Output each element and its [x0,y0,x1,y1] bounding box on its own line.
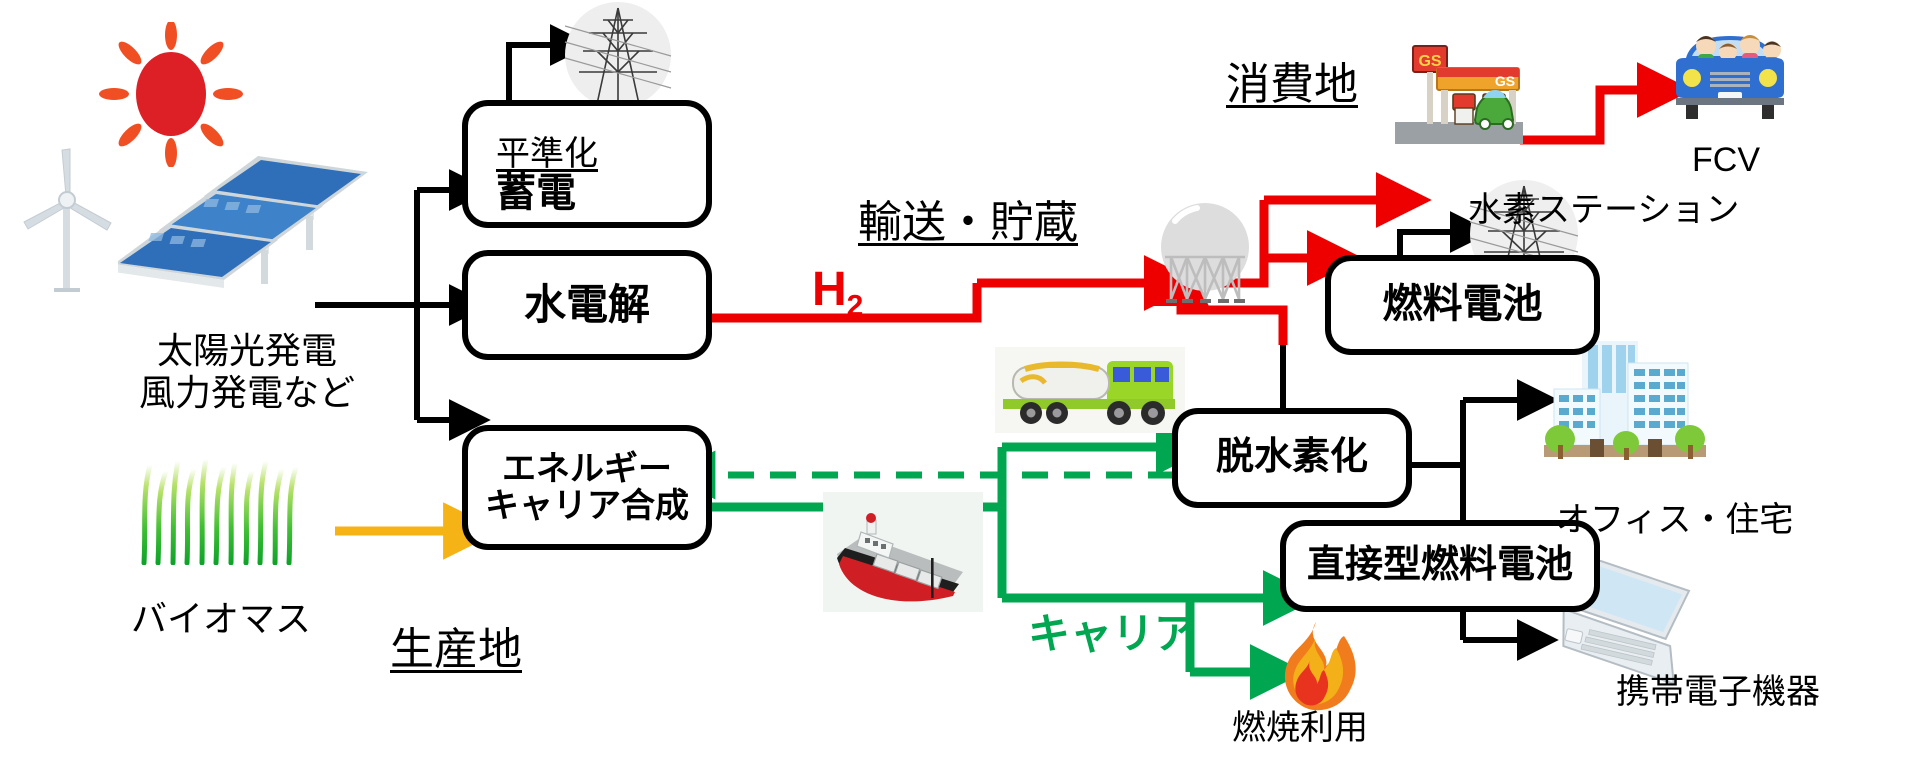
node-dehydrogenation-label: 脱水素化 [1216,437,1368,478]
node-electrolysis[interactable]: 水電解 [462,250,712,360]
power-pylon-icon [563,0,673,110]
hydrogen-station-icon: GS GS [1395,40,1523,144]
caption-office-housing: オフィス・住宅 [1556,500,1793,540]
fcv-car-icon [1660,22,1800,134]
node-direct-fuel-cell[interactable]: 直接型燃料電池 [1280,520,1600,612]
edge-label-carrier: キャリア [1028,600,1196,661]
caption-biomass: バイオマス [116,598,326,640]
svg-text:GS: GS [1495,73,1515,89]
node-electrolysis-label: 水電解 [524,282,650,327]
section-title-consumption: 消費地 [1226,48,1358,112]
flame-icon [1272,620,1364,716]
caption-combustion: 燃焼利用 [1232,708,1368,748]
edge-label-hydrogen: H2 [812,262,863,324]
caption-renewables-line1: 太陽光発電 [112,330,382,372]
solar-panel-icon [118,150,378,292]
caption-renewables-line2: 風力発電など [112,372,382,414]
node-storage-subtitle: 平準化 [496,126,598,175]
node-carrier-synthesis[interactable]: エネルギー キャリア合成 [462,425,712,550]
edge-label-hydrogen-subscript: 2 [847,290,864,323]
diagram-canvas: GS GS [0,0,1920,759]
section-title-transport: 輸送・貯蔵 [858,186,1078,250]
node-storage[interactable]: 平準化 蓄電 [462,100,712,228]
node-direct-fuel-cell-label: 直接型燃料電池 [1307,545,1573,586]
wind-turbine-icon [12,140,122,292]
caption-hydrogen-station: 水素ステーション [1468,190,1739,230]
node-storage-label: 蓄電 [496,172,576,215]
node-carrier-synthesis-label-line2: キャリア合成 [485,488,689,525]
tanker-truck-icon [995,345,1185,435]
biomass-grass-icon [130,455,310,565]
cargo-ship-icon [823,492,983,612]
edge-label-hydrogen-text: H [812,263,847,316]
caption-mobile-devices: 携帯電子機器 [1616,672,1820,712]
caption-renewables: 太陽光発電 風力発電など [112,330,382,415]
caption-fcv: FCV [1692,140,1760,180]
section-title-production: 生産地 [390,613,522,677]
spherical-gas-tank-icon [1145,195,1265,315]
node-carrier-synthesis-label-line1: エネルギー [502,451,672,488]
node-dehydrogenation[interactable]: 脱水素化 [1172,408,1412,508]
node-fuel-cell[interactable]: 燃料電池 [1325,255,1600,355]
node-fuel-cell-label: 燃料電池 [1383,283,1543,326]
